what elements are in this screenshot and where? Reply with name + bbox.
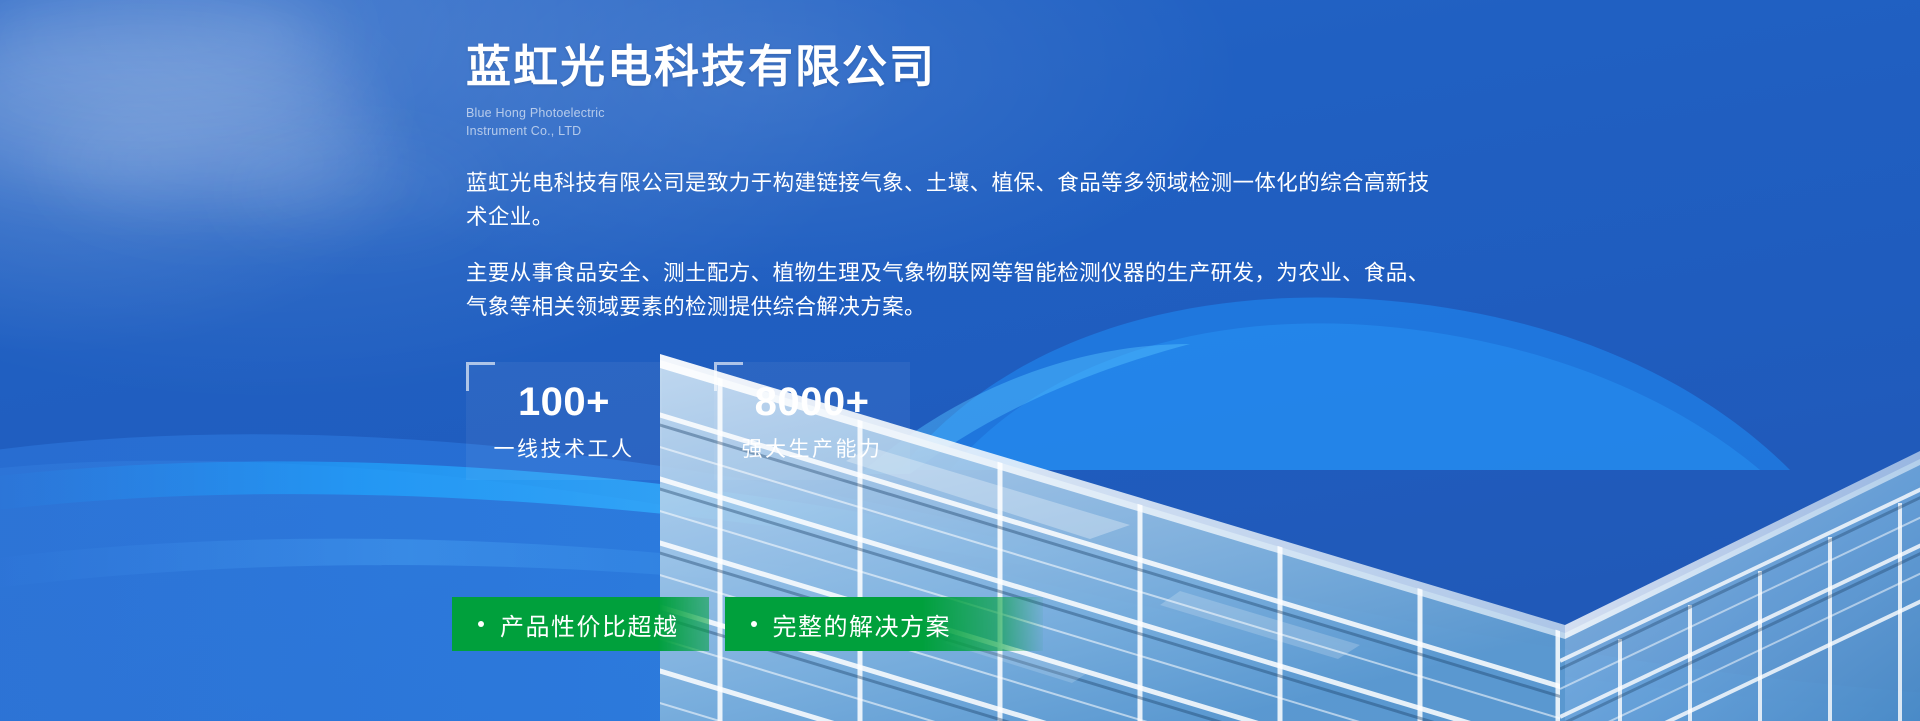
- subtitle-line-1: Blue Hong Photoelectric: [466, 104, 1476, 122]
- feature-tag-label: 完整的解决方案: [773, 607, 952, 642]
- stat-label: 强大生产能力: [742, 439, 883, 460]
- cloud-wisp-icon: [0, 0, 340, 110]
- bullet-dot-icon: [478, 621, 484, 627]
- stat-value: 8000+: [755, 382, 870, 422]
- hero-content: 蓝虹光电科技有限公司 Blue Hong Photoelectric Instr…: [466, 40, 1476, 480]
- feature-tag-label: 产品性价比超越: [500, 607, 679, 642]
- company-title: 蓝虹光电科技有限公司: [466, 40, 1476, 93]
- feature-tags-group: 产品性价比超越 完整的解决方案: [452, 597, 1043, 651]
- cloud-wisp-icon: [230, 150, 480, 230]
- subtitle-line-2: Instrument Co., LTD: [466, 122, 1476, 140]
- feature-tag-solution: 完整的解决方案: [725, 597, 1044, 651]
- company-subtitle-en: Blue Hong Photoelectric Instrument Co., …: [466, 104, 1476, 140]
- cloud-wisp-icon: [0, 30, 370, 180]
- cloud-wisp-icon: [60, 110, 390, 215]
- stat-value: 100+: [518, 382, 610, 422]
- intro-paragraph-1: 蓝虹光电科技有限公司是致力于构建链接气象、土壤、植保、食品等多领域检测一体化的综…: [466, 167, 1451, 235]
- stat-label: 一线技术工人: [494, 439, 635, 460]
- stats-group: 100+ 一线技术工人 8000+ 强大生产能力: [466, 362, 1476, 480]
- hero-banner: 蓝虹光电科技有限公司 Blue Hong Photoelectric Instr…: [0, 0, 1920, 721]
- stat-card-capacity: 8000+ 强大生产能力: [714, 362, 910, 480]
- intro-paragraph-2: 主要从事食品安全、测土配方、植物生理及气象物联网等智能检测仪器的生产研发，为农业…: [466, 257, 1451, 325]
- feature-tag-value: 产品性价比超越: [452, 597, 709, 651]
- stat-card-workers: 100+ 一线技术工人: [466, 362, 662, 480]
- bullet-dot-icon: [751, 621, 757, 627]
